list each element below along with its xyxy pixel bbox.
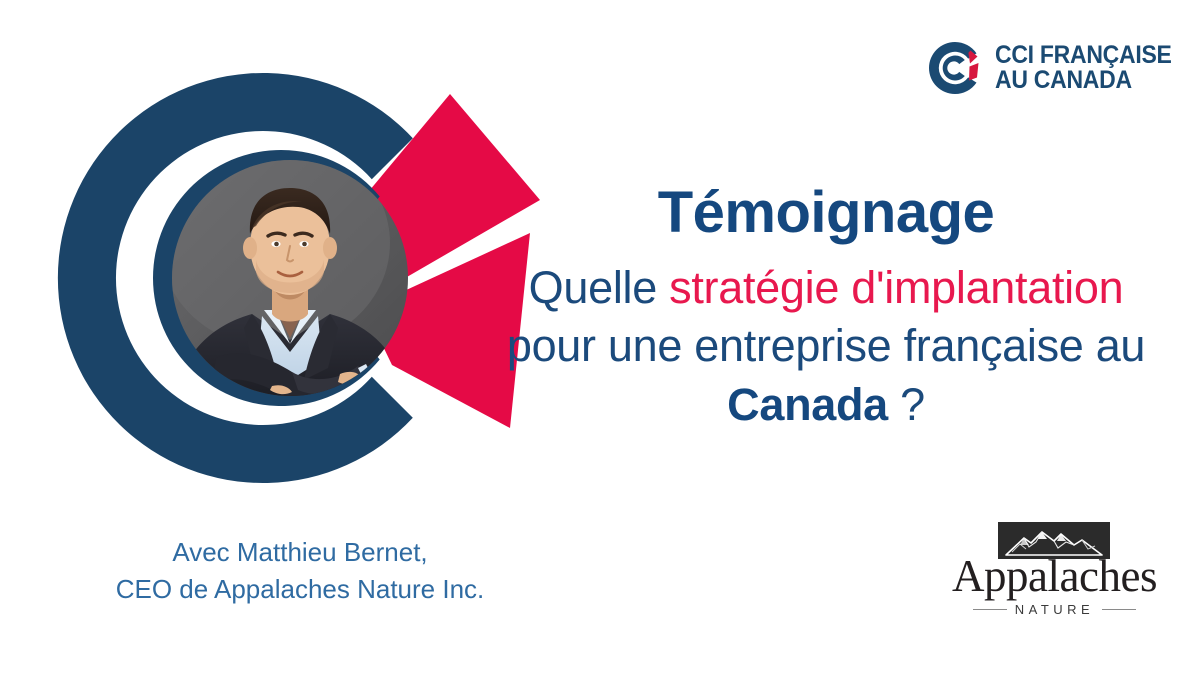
speaker-name-line: Avec Matthieu Bernet, — [55, 534, 545, 571]
cci-wordmark: CCI FRANÇAISE AU CANADA — [995, 43, 1187, 94]
appalaches-nature-logo: Appalaches NATURE — [952, 522, 1182, 634]
appalaches-tagline-row: NATURE — [952, 602, 1157, 617]
cci-c-emblem-with-portrait — [40, 28, 540, 528]
subtitle-line2: pour une entreprise française au — [507, 320, 1145, 371]
appalaches-wordmark: Appalaches — [952, 554, 1157, 599]
tagline-rule-left — [973, 609, 1007, 610]
subtitle-line3-bold: Canada — [727, 379, 888, 430]
appalaches-tagline: NATURE — [1015, 602, 1094, 617]
speaker-title-line: CEO de Appalaches Nature Inc. — [55, 571, 545, 608]
cci-francaise-au-canada-logo: CCI FRANÇAISE AU CANADA — [925, 32, 1155, 104]
speaker-caption: Avec Matthieu Bernet, CEO de Appalaches … — [55, 534, 545, 608]
subtitle: Quelle stratégie d'implantation pour une… — [470, 259, 1182, 435]
cci-logo-line-1: CCI FRANÇAISE — [995, 43, 1172, 69]
main-text-block: Témoignage Quelle stratégie d'implantati… — [470, 182, 1182, 434]
slide-canvas: CCI FRANÇAISE AU CANADA — [0, 0, 1200, 675]
subtitle-line1-navy: Quelle — [529, 262, 669, 313]
page-title: Témoignage — [470, 182, 1182, 245]
cci-logo-line-2: AU CANADA — [995, 68, 1172, 94]
cci-c-mark-icon — [925, 38, 985, 98]
subtitle-line1-highlight: stratégie d'implantation — [669, 262, 1123, 313]
tagline-rule-right — [1102, 609, 1136, 610]
subtitle-line3-rest: ? — [888, 379, 925, 430]
